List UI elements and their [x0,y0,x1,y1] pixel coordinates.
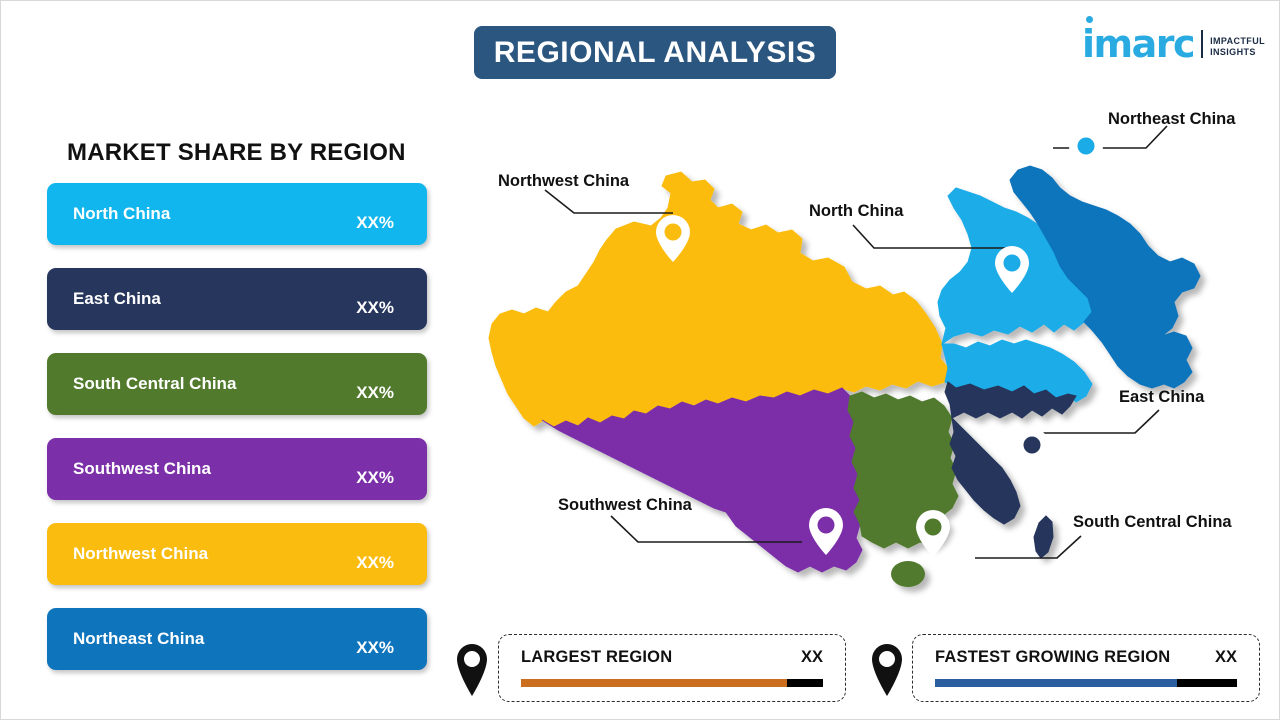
logo-tagline-line1: IMPACTFUL [1210,36,1265,47]
leader-line-northwest-china [545,190,673,213]
region-label: Northeast China [73,629,204,649]
logo-divider [1201,30,1203,58]
leader-line-south-central-china [975,536,1081,558]
logo-wordmark: imarc [1082,27,1194,61]
largest-region-pin-icon [453,642,491,698]
list-item-south-central-china[interactable]: South Central China XX% [47,353,427,415]
map-region-northeast-china-lower[interactable] [1092,326,1192,388]
map-region-taiwan[interactable] [1034,516,1053,558]
region-value: XX% [356,213,394,233]
region-value: XX% [356,468,394,488]
logo-tagline-line2: INSIGHTS [1210,47,1265,58]
region-value: XX% [356,553,394,573]
fastest-growing-region-label: FASTEST GROWING REGION [935,648,1170,667]
map-label-southwest-china: Southwest China [558,496,692,515]
market-share-heading: MARKET SHARE BY REGION [67,139,406,167]
map-label-northwest-china: Northwest China [498,172,629,191]
list-item-northwest-china[interactable]: Northwest China XX% [47,523,427,585]
logo-word-text: imarc [1082,22,1194,66]
region-label: Northwest China [73,544,208,564]
region-label: South Central China [73,374,236,394]
market-share-list: North China XX% East China XX% South Cen… [47,183,429,693]
list-item-east-china[interactable]: East China XX% [47,268,427,330]
largest-region-progress-track [521,679,823,687]
map-region-south-central-china[interactable] [848,392,958,524]
fastest-growing-region-pin-icon [868,642,906,698]
fastest-growing-region-value: XX [1215,648,1237,667]
list-item-north-china[interactable]: North China XX% [47,183,427,245]
region-label: East China [73,289,161,309]
page-title-banner: REGIONAL ANALYSIS [474,26,836,79]
region-value: XX% [356,383,394,403]
list-item-southwest-china[interactable]: Southwest China XX% [47,438,427,500]
largest-region-callout: LARGEST REGION XX [498,634,846,702]
region-label: North China [73,204,170,224]
fastest-growing-region-progress-fill [935,679,1177,687]
map-region-hainan-island[interactable] [891,561,925,587]
map-label-northeast-china: Northeast China [1108,110,1235,129]
map-label-east-china: East China [1119,388,1204,407]
map-pin-east-china[interactable] [1015,428,1049,475]
logo-tagline: IMPACTFUL INSIGHTS [1210,36,1265,58]
region-label: Southwest China [73,459,211,479]
largest-region-progress-fill [521,679,787,687]
map-label-south-central-china: South Central China [1073,513,1232,532]
region-value: XX% [356,638,394,658]
largest-region-value: XX [801,648,823,667]
map-region-east-china-coast[interactable] [950,418,1020,524]
map-label-north-china: North China [809,202,903,221]
logo-dot-icon [1086,16,1093,23]
imarc-logo: imarc IMPACTFUL INSIGHTS [1082,15,1265,61]
largest-region-label: LARGEST REGION [521,648,672,667]
fastest-growing-region-progress-track [935,679,1237,687]
region-value: XX% [356,298,394,318]
china-region-map: Northeast China Northwest China North Ch… [456,96,1280,626]
map-pin-south-central-china[interactable] [916,510,950,557]
page-title: REGIONAL ANALYSIS [494,36,816,70]
fastest-growing-region-callout: FASTEST GROWING REGION XX [912,634,1260,702]
map-pin-northeast-china[interactable] [1069,129,1103,176]
slide-root: REGIONAL ANALYSIS imarc IMPACTFUL INSIGH… [0,0,1280,720]
list-item-northeast-china[interactable]: Northeast China XX% [47,608,427,670]
